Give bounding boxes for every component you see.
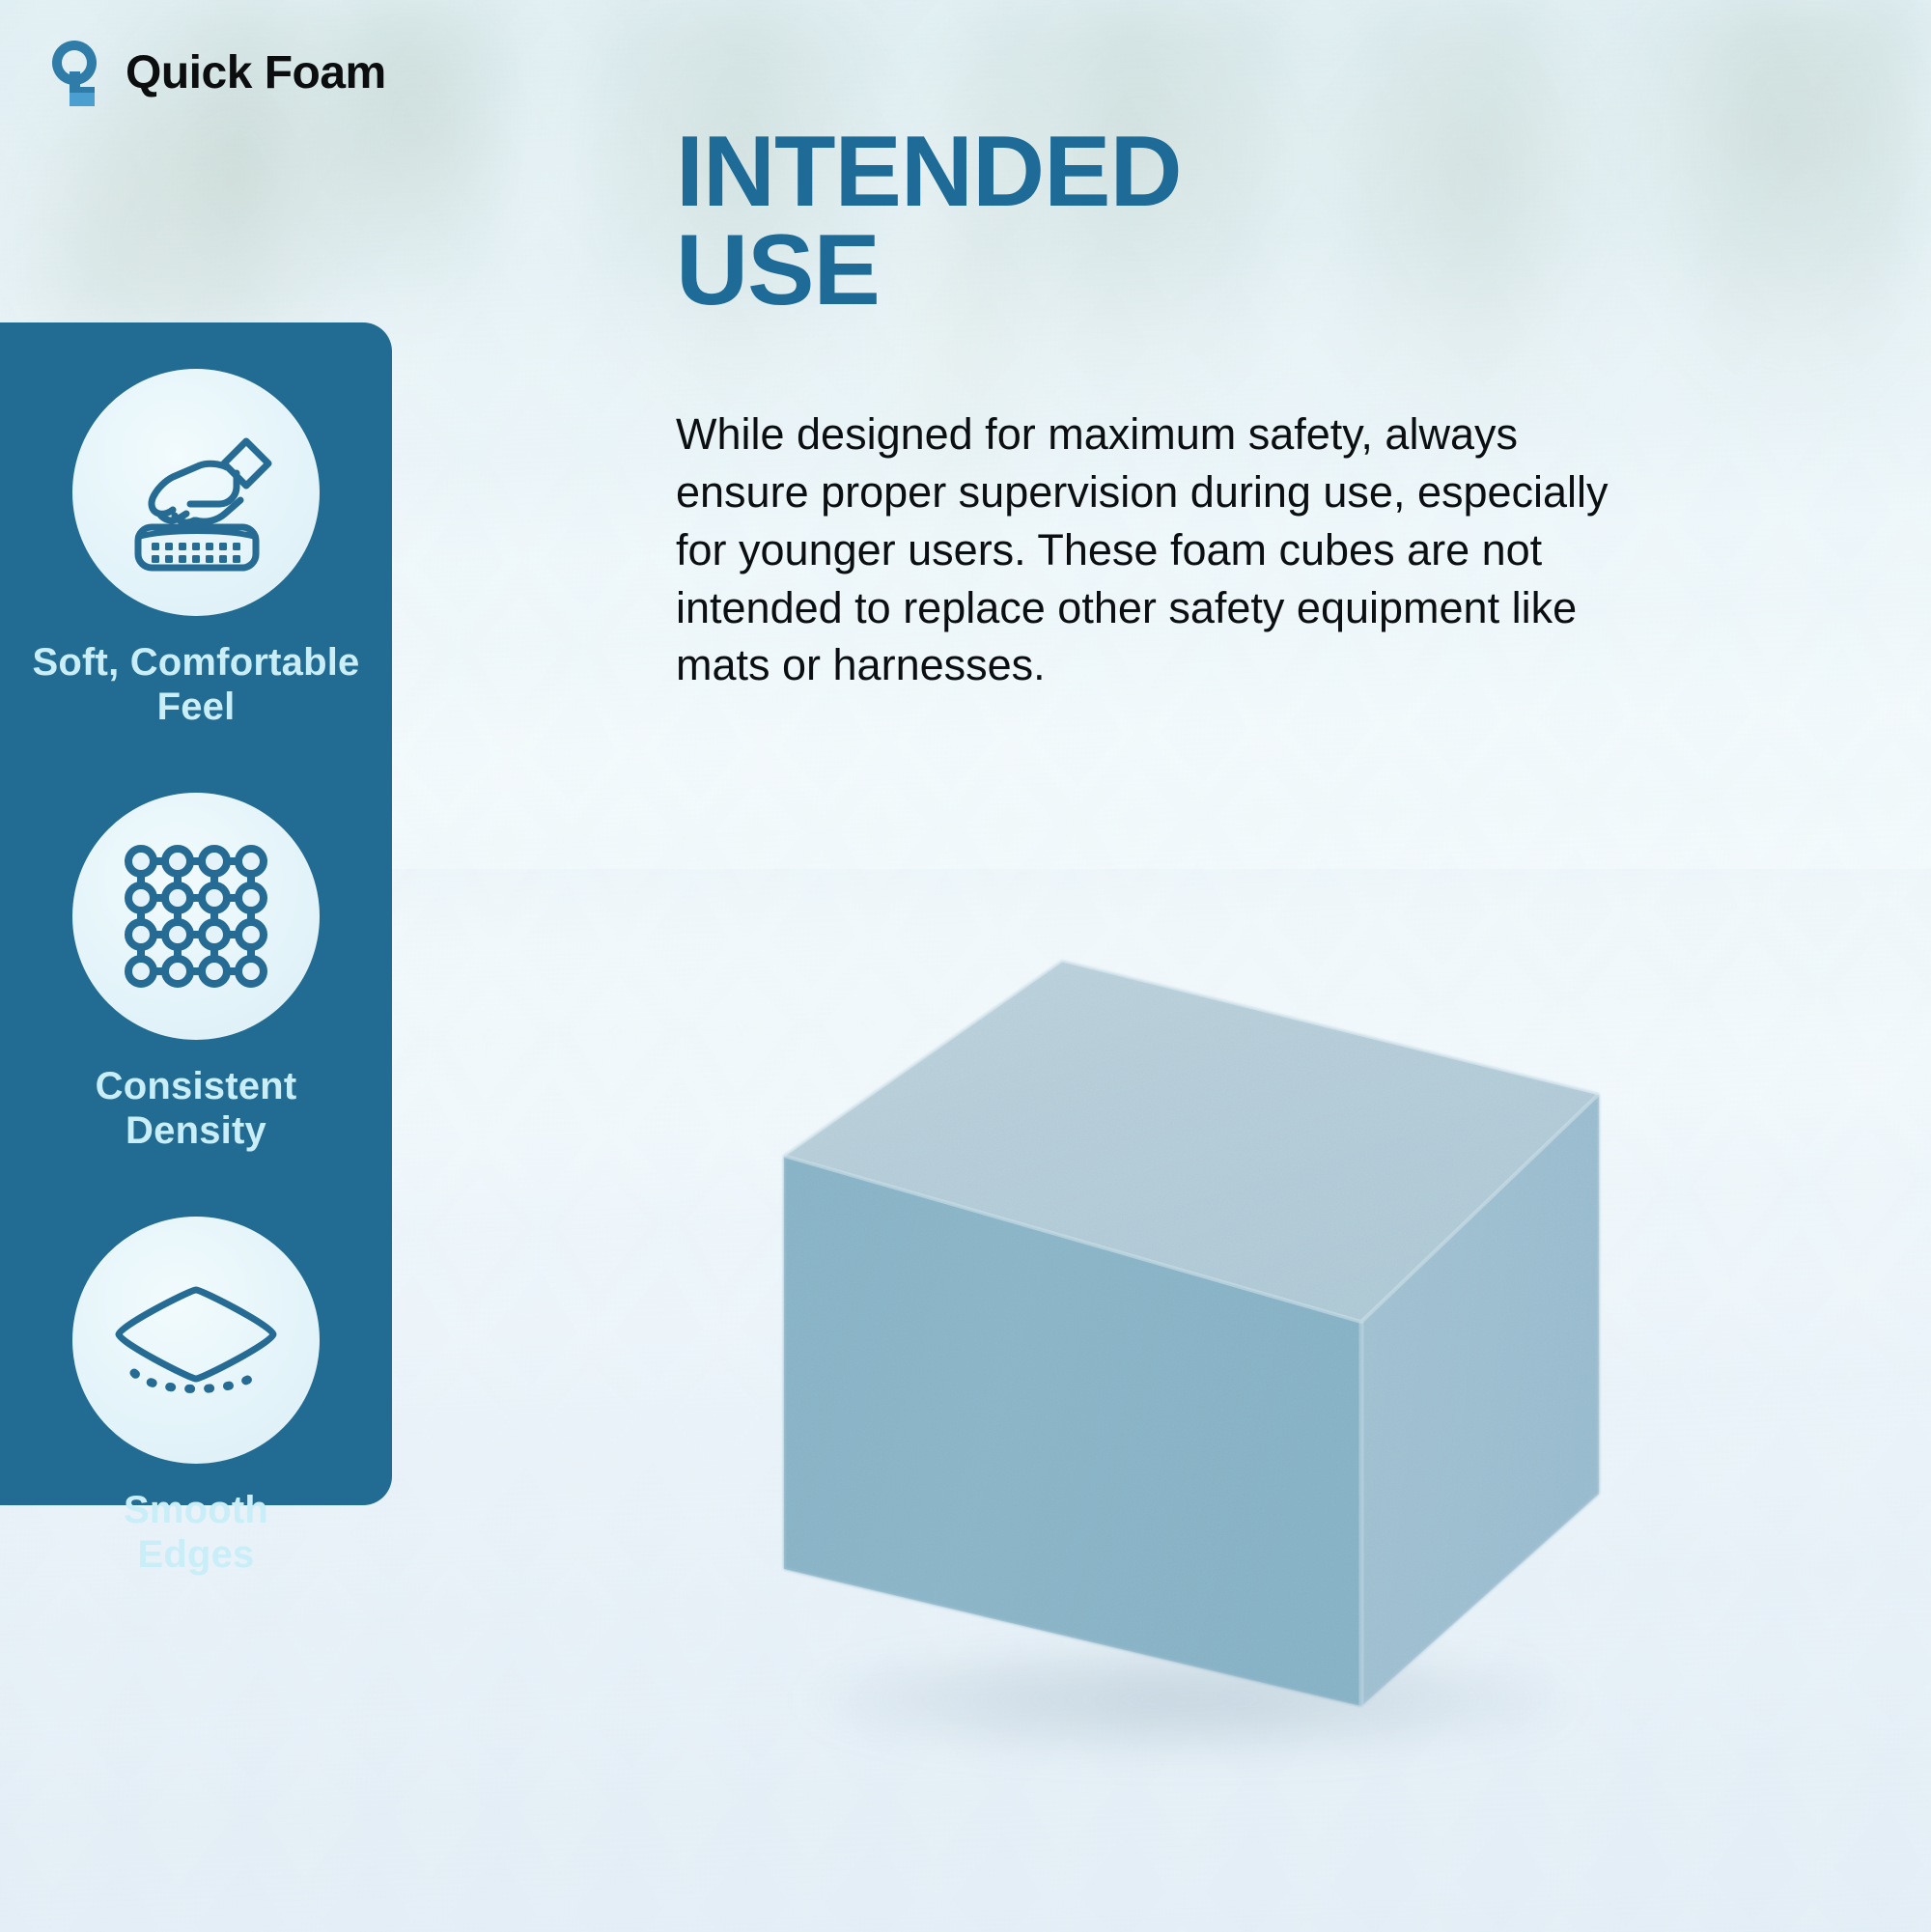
features-sidebar: Soft, Comfortable Feel: [0, 322, 392, 1505]
brand-logo: Quick Foam: [44, 37, 386, 108]
quick-foam-q-logo-icon: [44, 37, 104, 108]
molecular-grid-density-icon: [72, 793, 320, 1040]
rounded-diamond-smooth-edges-icon: [72, 1217, 320, 1464]
feature-item: Smooth Edges: [0, 1217, 392, 1577]
feature-label: Soft, Comfortable Feel: [33, 641, 360, 729]
body-paragraph: While designed for maximum safety, alway…: [676, 406, 1651, 694]
brand-name: Quick Foam: [126, 46, 386, 99]
feature-item: Soft, Comfortable Feel: [0, 369, 392, 729]
infographic-page: Quick Foam: [0, 0, 1931, 1932]
feature-label: Smooth Edges: [124, 1489, 268, 1577]
foam-cube-image: [772, 951, 1612, 1714]
feature-label: Consistent Density: [96, 1065, 297, 1153]
hand-pressing-foam-icon: [72, 369, 320, 616]
feature-item: Consistent Density: [0, 793, 392, 1153]
page-title: INTENDED USE: [676, 124, 1661, 321]
